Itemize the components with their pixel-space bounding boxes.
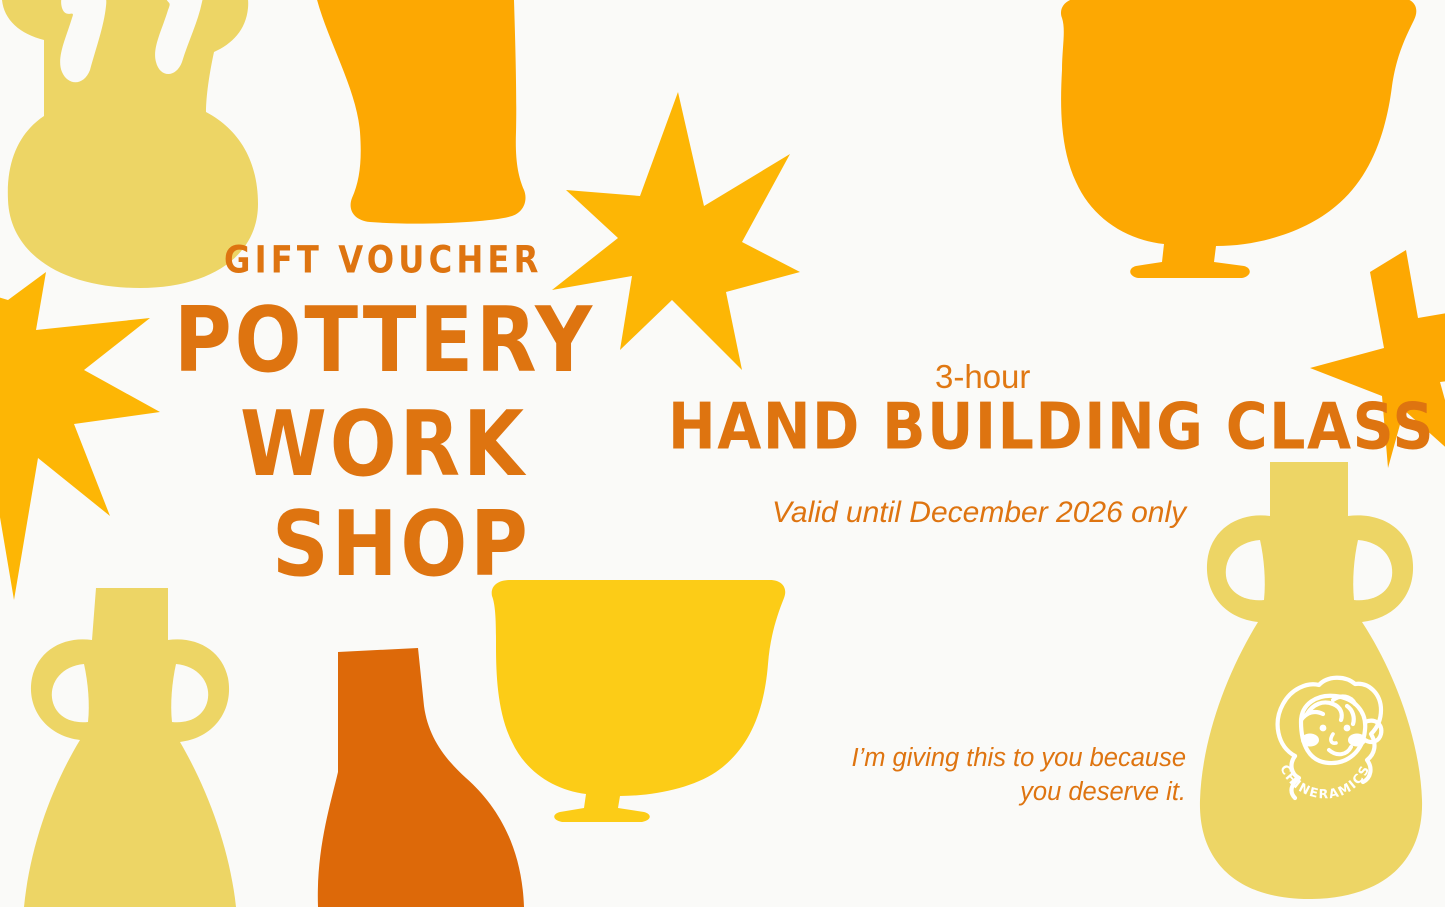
chineramics-logo: CHINERAMICS: [1249, 660, 1401, 812]
gift-voucher-card: GIFT VOUCHER POTTERY WORK SHOP 3-hour HA…: [0, 0, 1445, 907]
personal-message-line-2: you deserve it.: [780, 776, 1186, 810]
logo-eye-right: [1344, 725, 1351, 732]
gift-voucher-label: GIFT VOUCHER: [224, 243, 543, 280]
logo-smile: [1329, 747, 1351, 754]
logo-eye-left: [1320, 725, 1327, 732]
logo-cheek-left: [1301, 734, 1319, 747]
class-name-title: HAND BUILDING CLASS: [668, 396, 1435, 460]
logo-cheek-right: [1348, 734, 1366, 747]
personal-message-line-1: I’m giving this to you because: [780, 742, 1186, 776]
logo-nose: [1331, 734, 1336, 743]
workshop-title-line-1: POTTERY: [174, 296, 595, 386]
workshop-title-line-3: SHOP: [272, 500, 531, 590]
workshop-title-line-2: WORK: [240, 400, 527, 490]
validity-text: Valid until December 2026 only: [772, 496, 1186, 530]
personal-message: I’m giving this to you because you deser…: [780, 742, 1186, 809]
